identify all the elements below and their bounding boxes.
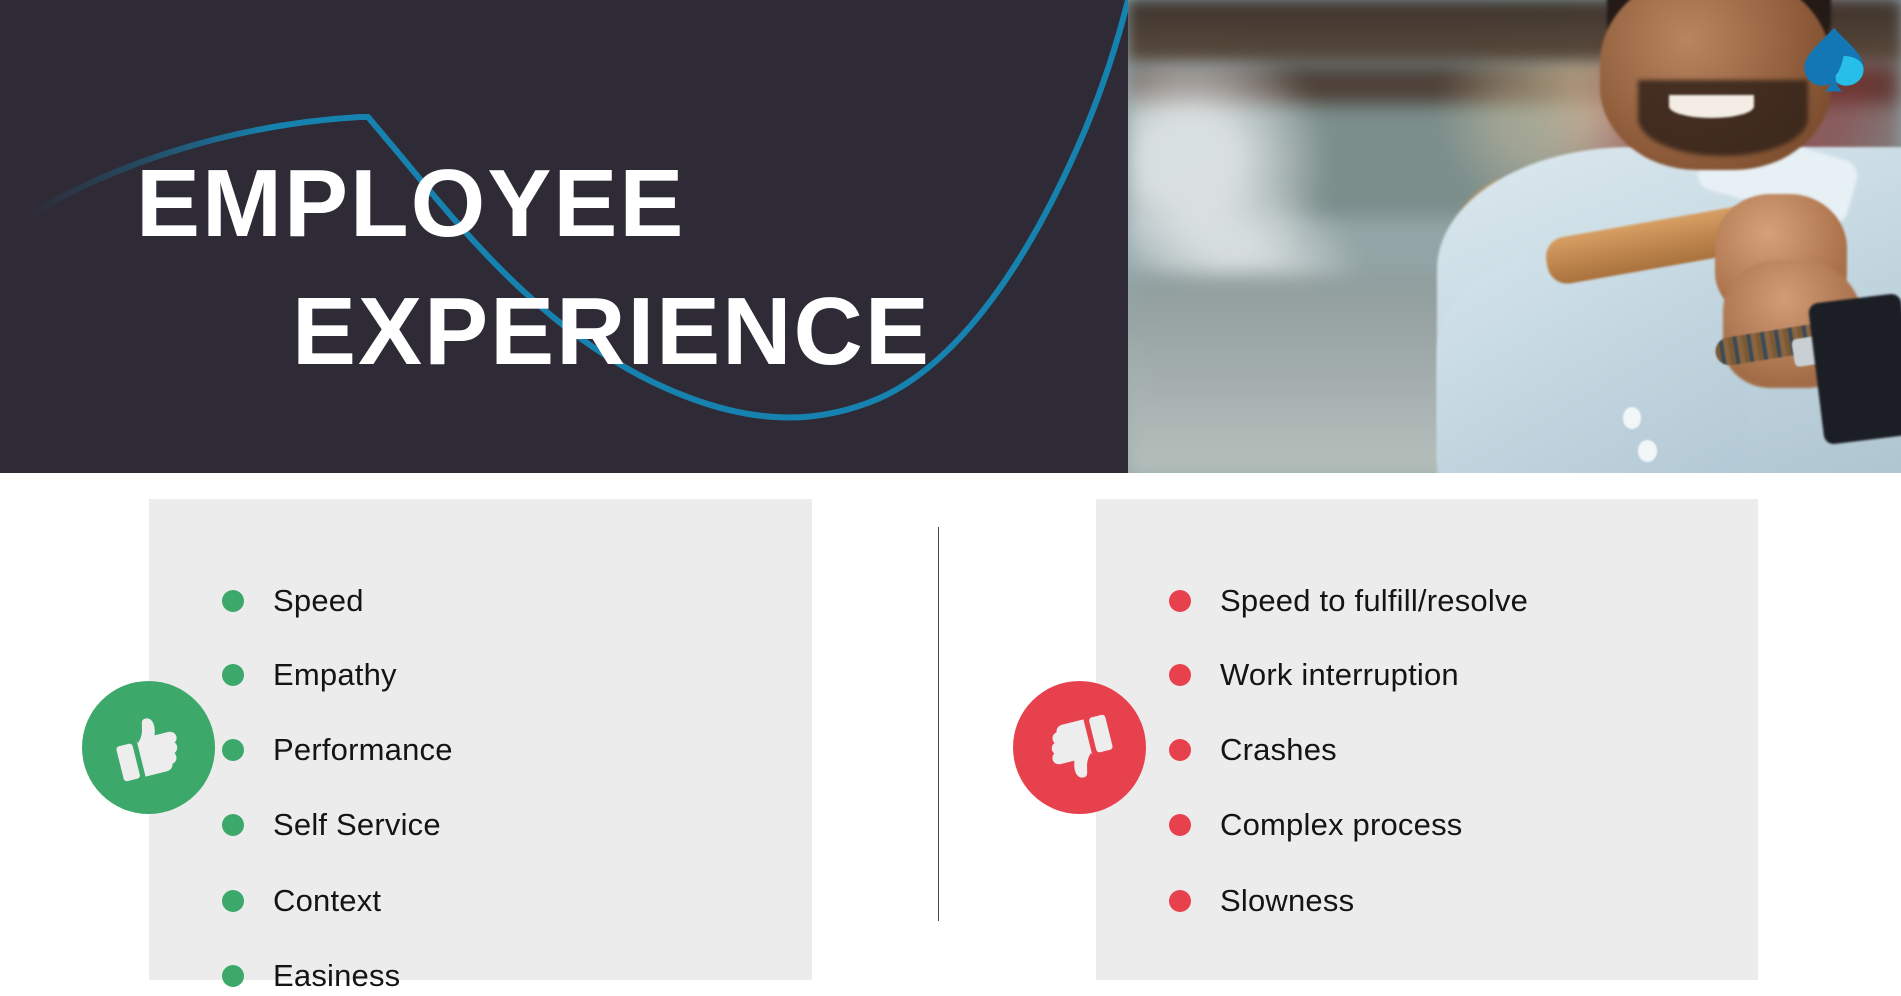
list-item[interactable]: Complex process bbox=[1169, 805, 1462, 845]
thumbs-down-icon bbox=[1039, 707, 1121, 789]
thumbs-up-icon bbox=[108, 707, 190, 789]
list-item[interactable]: Speed bbox=[222, 581, 364, 621]
list-item[interactable]: Speed to fulfill/resolve bbox=[1169, 581, 1528, 621]
bullet-icon bbox=[222, 890, 244, 912]
list-item[interactable]: Crashes bbox=[1169, 730, 1337, 770]
bullet-icon bbox=[1169, 590, 1191, 612]
negative-panel: Speed to fulfill/resolve Work interrupti… bbox=[1096, 499, 1758, 980]
list-item-label: Speed bbox=[273, 583, 364, 619]
list-item-label: Complex process bbox=[1220, 807, 1462, 843]
title-line-1: EMPLOYEE bbox=[136, 156, 685, 252]
spade-droplet-logo[interactable] bbox=[1797, 22, 1871, 96]
bullet-icon bbox=[222, 814, 244, 836]
list-item[interactable]: Work interruption bbox=[1169, 655, 1459, 695]
panel-divider bbox=[938, 527, 939, 921]
photo-shirt-button-1 bbox=[1623, 407, 1642, 429]
list-item-label: Performance bbox=[273, 732, 453, 768]
list-item-label: Crashes bbox=[1220, 732, 1337, 768]
photo-beard bbox=[1638, 80, 1808, 156]
list-item-label: Speed to fulfill/resolve bbox=[1220, 583, 1528, 619]
list-item-label: Self Service bbox=[273, 807, 441, 843]
list-item-label: Context bbox=[273, 883, 381, 919]
photo-shirt-button-2 bbox=[1638, 440, 1657, 462]
list-item[interactable]: Empathy bbox=[222, 655, 397, 695]
title-line-2: EXPERIENCE bbox=[292, 284, 931, 380]
list-item-label: Empathy bbox=[273, 657, 397, 693]
bullet-icon bbox=[1169, 890, 1191, 912]
list-item[interactable]: Context bbox=[222, 881, 381, 921]
positive-panel: Speed Empathy Performance Self Service C… bbox=[149, 499, 812, 980]
negative-list: Speed to fulfill/resolve Work interrupti… bbox=[1096, 499, 1758, 980]
list-item-label: Work interruption bbox=[1220, 657, 1459, 693]
header-banner: EMPLOYEE EXPERIENCE bbox=[0, 0, 1901, 473]
list-item[interactable]: Self Service bbox=[222, 805, 441, 845]
page-title: EMPLOYEE EXPERIENCE bbox=[0, 0, 1128, 473]
bullet-icon bbox=[222, 590, 244, 612]
list-item[interactable]: Performance bbox=[222, 730, 453, 770]
bullet-icon bbox=[1169, 664, 1191, 686]
bullet-icon bbox=[222, 664, 244, 686]
bullet-icon bbox=[222, 965, 244, 987]
photo-street bbox=[1128, 274, 1484, 473]
thumbs-up-badge[interactable] bbox=[82, 681, 215, 814]
list-item[interactable]: Easiness bbox=[222, 956, 400, 996]
hero-photo bbox=[1128, 0, 1901, 473]
bullet-icon bbox=[222, 739, 244, 761]
positive-list: Speed Empathy Performance Self Service C… bbox=[149, 499, 812, 980]
bullet-icon bbox=[1169, 814, 1191, 836]
bullet-icon bbox=[1169, 739, 1191, 761]
thumbs-down-badge[interactable] bbox=[1013, 681, 1146, 814]
list-item[interactable]: Slowness bbox=[1169, 881, 1354, 921]
photo-smartphone bbox=[1808, 293, 1901, 445]
list-item-label: Slowness bbox=[1220, 883, 1354, 919]
photo-arm bbox=[1437, 246, 1746, 473]
